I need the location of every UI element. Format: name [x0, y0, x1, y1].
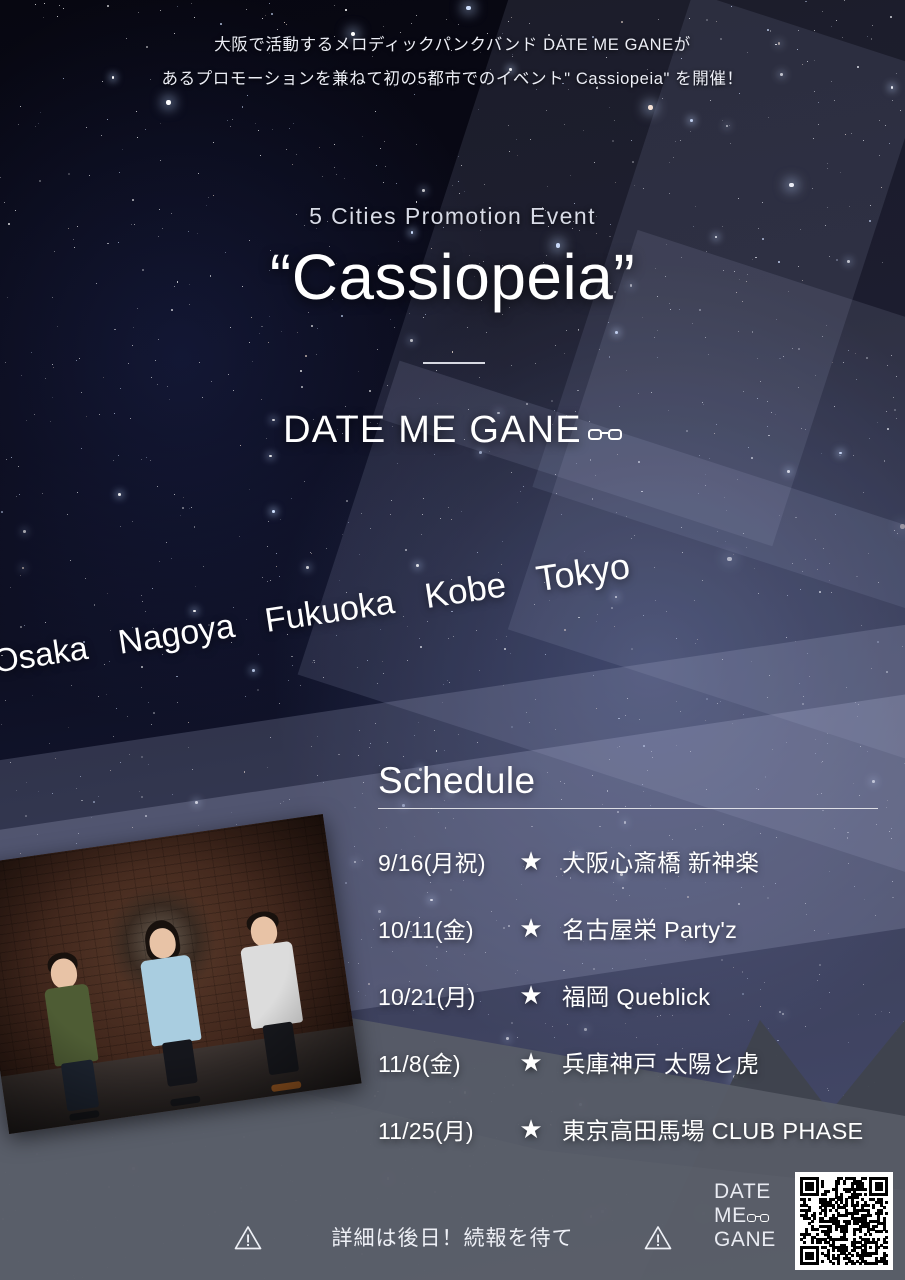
glasses-icon — [588, 429, 622, 445]
schedule-row: 10/21(月)★福岡 Queblick — [378, 961, 878, 1028]
star-icon: ★ — [500, 1049, 562, 1075]
glasses-icon-logo — [747, 1214, 769, 1225]
event-title: “Cassiopeia” — [0, 240, 905, 314]
schedule-date: 11/8(金) — [378, 1045, 500, 1079]
star-icon: ★ — [500, 915, 562, 941]
schedule-date: 11/25(月) — [378, 1112, 500, 1146]
schedule-venue: 兵庫神戸 太陽と虎 — [562, 1045, 759, 1079]
header-copy: 大阪で活動するメロディックパンクバンド DATE ME GANEが あるプロモー… — [0, 28, 905, 96]
schedule-venue: 名古屋栄 Party'z — [562, 911, 737, 945]
warning-triangle-icon-2 — [644, 1225, 672, 1250]
schedule-venue: 大阪心斎橋 新神楽 — [562, 844, 759, 878]
header-line-2: あるプロモーションを兼ねて初の5都市でのイベント" Cassiopeia" を開… — [0, 62, 905, 96]
header-line-1: 大阪で活動するメロディックパンクバンド DATE ME GANEが — [0, 28, 905, 62]
band-name: DATE ME GANE — [283, 409, 582, 452]
schedule-heading: Schedule — [378, 760, 878, 802]
event-subtitle: 5 Cities Promotion Event — [0, 203, 905, 230]
warning-triangle-icon — [234, 1225, 262, 1250]
schedule-venue: 東京高田馬場 CLUB PHASE — [562, 1112, 864, 1146]
logo-line-1: DATE — [714, 1180, 771, 1204]
star-icon: ★ — [500, 1116, 562, 1142]
schedule-row: 9/16(月祝)★大阪心斎橋 新神楽 — [378, 827, 878, 894]
city-osaka: Osaka — [0, 629, 90, 680]
band-name-block: DATE ME GANE — [0, 409, 905, 452]
star-icon: ★ — [500, 848, 562, 874]
schedule-date: 10/21(月) — [378, 978, 500, 1012]
band-photo — [0, 814, 362, 1134]
schedule-venue: 福岡 Queblick — [562, 978, 710, 1012]
schedule-row: 11/25(月)★東京高田馬場 CLUB PHASE — [378, 1095, 878, 1162]
logo-line-2: ME — [714, 1204, 747, 1228]
star-icon: ★ — [500, 982, 562, 1008]
schedule-row: 11/8(金)★兵庫神戸 太陽と虎 — [378, 1028, 878, 1095]
logo-line-3: GANE — [714, 1228, 776, 1252]
footer-notice-text: 詳細は後日！続報を待て — [332, 1222, 574, 1252]
qr-code[interactable] — [795, 1172, 893, 1270]
title-divider — [423, 362, 485, 364]
schedule-divider — [378, 808, 878, 809]
schedule-date: 9/16(月祝) — [378, 844, 500, 878]
schedule-section: Schedule 9/16(月祝)★大阪心斎橋 新神楽10/11(金)★名古屋栄… — [378, 760, 878, 1162]
schedule-date: 10/11(金) — [378, 911, 500, 945]
poster-canvas: 大阪で活動するメロディックパンクバンド DATE ME GANEが あるプロモー… — [0, 0, 905, 1280]
band-logo: DATE ME GANE — [714, 1180, 788, 1252]
city-kobe: Kobe — [422, 565, 509, 616]
schedule-row: 10/11(金)★名古屋栄 Party'z — [378, 894, 878, 961]
schedule-rows: 9/16(月祝)★大阪心斎橋 新神楽10/11(金)★名古屋栄 Party'z1… — [378, 827, 878, 1162]
